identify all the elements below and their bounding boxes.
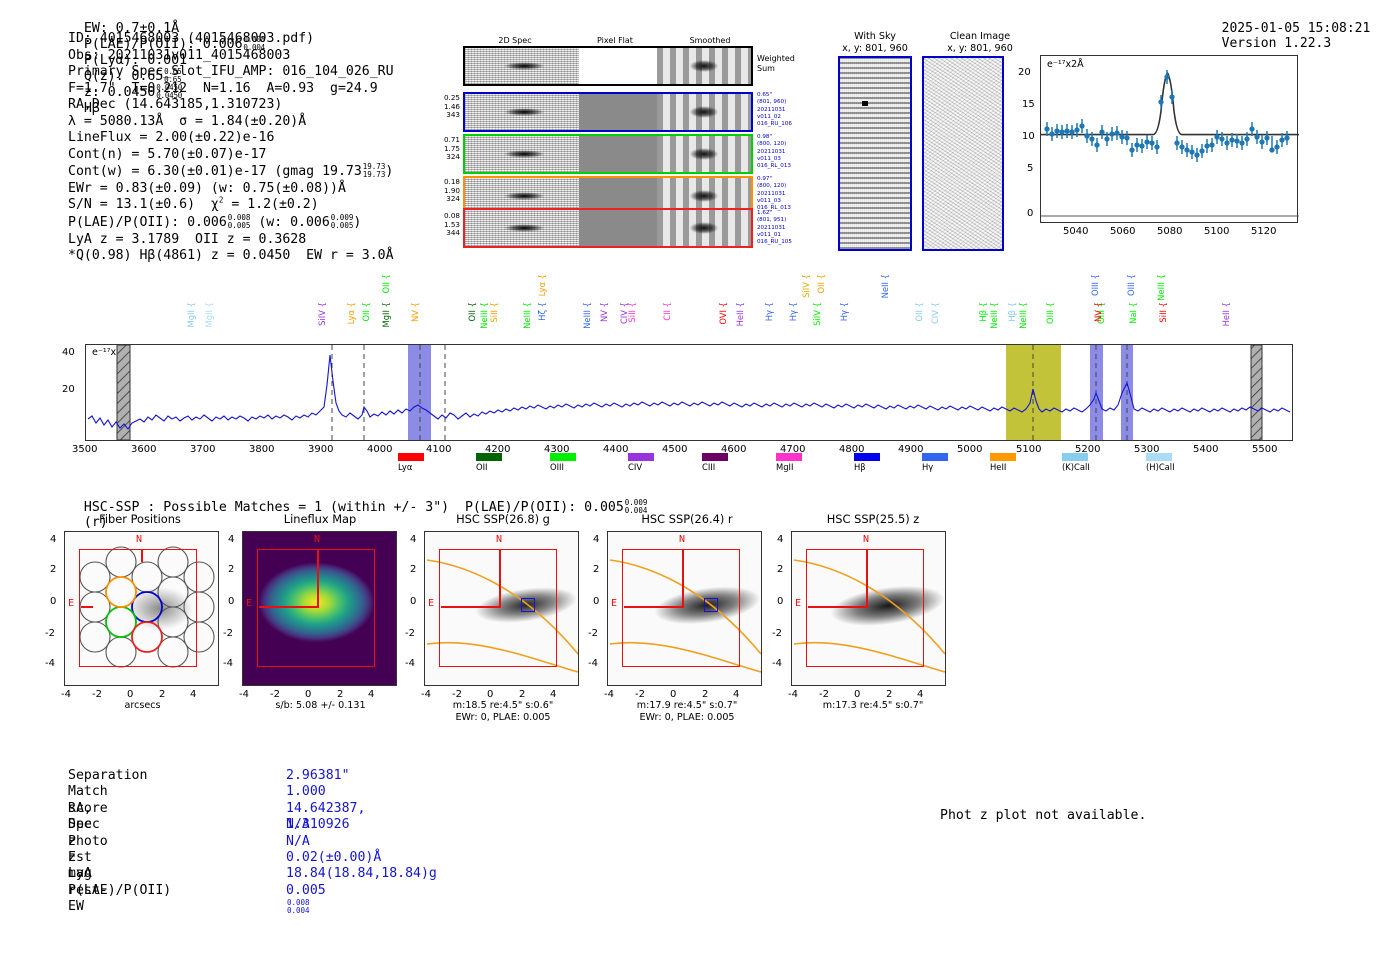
hsc-g-red-box [439, 549, 557, 667]
spec-xtick-5500: 5500 [1252, 444, 1277, 455]
fiber-positions-plot[interactable] [64, 531, 219, 686]
cutout-withsky-image [838, 56, 912, 251]
panel-2-caption: m:18.5 re:4.5" s:0.6" [418, 700, 588, 712]
row4-smoothed-image [657, 210, 751, 246]
p3-xtick-2: 2 [702, 689, 708, 700]
row-val-plae: 0.0050.0080.004 [286, 883, 326, 917]
line-profile-plot: e⁻¹⁷x2Å [1040, 55, 1298, 223]
spec-xtick-5000: 5000 [957, 444, 982, 455]
spec-ytick-40: 40 [62, 347, 75, 358]
weighted-2dspec-image [465, 48, 579, 84]
legend-civ: CIV [628, 452, 658, 472]
panel-3-caption2: EWr: 0, PLAE: 0.005 [602, 712, 772, 724]
row1-2dspec-image [465, 94, 579, 130]
row4-pixelflat-image [579, 210, 656, 246]
legend-hgamma: Hγ [922, 452, 952, 472]
p3-xtick-4: 4 [733, 689, 739, 700]
panel-1-caption: s/b: 5.08 +/- 0.131 [238, 700, 403, 712]
legend-ciii: CIII [702, 452, 732, 472]
hsc-g-plot[interactable] [424, 531, 579, 686]
legend-hbeta: Hβ [854, 452, 884, 472]
p1-xtick-m2: -2 [270, 689, 280, 700]
row2-2dspec-image [465, 136, 579, 172]
weighted-smoothed-image [657, 48, 751, 84]
lp-xtick-5080: 5080 [1157, 226, 1182, 237]
p4-xtick-m4: -4 [788, 689, 798, 700]
p3-ytick-m4: -4 [588, 658, 598, 669]
source-info-block: ID: 4015468003 (4015468003.pdf) Obs: 202… [68, 31, 394, 265]
info-line-radec: RA,Dec (14.643185,1.310723) [68, 97, 394, 114]
lineflux-compass-n: N [314, 534, 320, 545]
info-line-contn: Cont(n) = 5.70(±0.07)e-17 [68, 147, 394, 164]
info-line-ewr: EWr = 0.83(±0.09) (w: 0.75(±0.08))Å [68, 181, 394, 198]
hsc-r-plot[interactable] [607, 531, 762, 686]
legend-lya: Lyα [398, 452, 428, 472]
spec-xtick-3800: 3800 [249, 444, 274, 455]
hsc-r-red-box [622, 549, 740, 667]
legend-oii: OII [476, 452, 506, 472]
p1-xtick-m4: -4 [239, 689, 249, 700]
spec-xtick-4900: 4900 [898, 444, 923, 455]
row-val-matchscore: 1.000 [286, 784, 326, 800]
fiber-compass-n: N [136, 534, 142, 545]
p0-ytick-m2: -2 [45, 628, 55, 639]
row4-2dspec-image [465, 210, 579, 246]
p4-xtick-2: 2 [886, 689, 892, 700]
fiber-red-box [79, 549, 197, 667]
spec-xtick-3700: 3700 [190, 444, 215, 455]
p3-xtick-m4: -4 [604, 689, 614, 700]
spec-row-2 [463, 134, 753, 174]
panel-0-caption: arcsecs [60, 700, 225, 712]
spec-xtick-5400: 5400 [1193, 444, 1218, 455]
spec-xtick-4500: 4500 [662, 444, 687, 455]
p4-xtick-m2: -2 [819, 689, 829, 700]
lp-ytick-10: 10 [1022, 131, 1035, 142]
lp-xtick-5040: 5040 [1063, 226, 1088, 237]
panel-4-title: HSC SSP(25.5) z [788, 512, 958, 526]
panel-1-title: Lineflux Map [240, 512, 400, 526]
p4-ytick-m4: -4 [772, 658, 782, 669]
timestamp-version: 2025-01-05 15:08:21 Version 1.22.3 [1206, 6, 1386, 51]
spec-ytick-20: 20 [62, 384, 75, 395]
legend-mgii: MgII [776, 452, 806, 472]
fiber-compass-e: E [68, 598, 74, 609]
row1-smoothed-image [657, 94, 751, 130]
p0-ytick-m4: -4 [45, 658, 55, 669]
panel-3-title: HSC SSP(26.4) r [602, 512, 772, 526]
version: Version 1.22.3 [1222, 36, 1332, 51]
hsc-z-red-box [806, 549, 924, 667]
p0-xtick-m4: -4 [61, 689, 71, 700]
spec-row-1-left-labels: 0.251.46343 [418, 94, 460, 120]
p1-ytick-4: 4 [228, 534, 234, 545]
row-val-mag: 18.84(18.84,18.84)g [286, 866, 437, 882]
timestamp: 2025-01-05 15:08:21 [1222, 21, 1371, 36]
p3-ytick-2: 2 [593, 564, 599, 575]
spec-row-4-left-labels: 0.081.53344 [418, 212, 460, 238]
spec-xtick-3500: 3500 [72, 444, 97, 455]
col-header-2dspec: 2D Spec [470, 36, 560, 45]
row2-pixelflat-image [579, 136, 656, 172]
p0-ytick-0: 0 [50, 596, 56, 607]
spec-row-3-right-labels: 0.97"(800, 120)20211031v011_03016_RL_013 [757, 176, 809, 212]
weighted-sum-label: WeightedSum [757, 54, 805, 74]
p2-xtick-0: 0 [487, 689, 493, 700]
lp-xtick-5120: 5120 [1251, 226, 1276, 237]
p0-xtick-4: 4 [190, 689, 196, 700]
row-key-mag: mag [68, 866, 92, 882]
row2-smoothed-image [657, 136, 751, 172]
p1-xtick-0: 0 [305, 689, 311, 700]
spec-xtick-4100: 4100 [426, 444, 451, 455]
row-key-separation: Separation [68, 768, 147, 784]
photz-note: Phot z plot not available. [940, 808, 1146, 823]
p1-xtick-2: 2 [337, 689, 343, 700]
cutout-clean-title: Clean Imagex, y: 801, 960 [925, 31, 1035, 54]
p1-xtick-4: 4 [368, 689, 374, 700]
p0-ytick-4: 4 [50, 534, 56, 545]
spec-xtick-3600: 3600 [131, 444, 156, 455]
panel-0-title: Fiber Positions [60, 512, 220, 526]
info-line-obs: Obs: 20211031v011_4015468003 [68, 48, 394, 65]
p4-ytick-0: 0 [777, 596, 783, 607]
info-line-seeing: F=1.7" T=0.212 N=1.16 A=0.93 g=24.9 [68, 81, 394, 98]
spectrum-svg [86, 345, 1292, 440]
hsc-g-compass-e: E [428, 598, 434, 609]
p2-xtick-m2: -2 [452, 689, 462, 700]
info-line-contw: Cont(w) = 6.30(±0.01)e-17 (gmag 19.7319.… [68, 163, 394, 181]
p1-ytick-m2: -2 [223, 628, 233, 639]
line-profile-svg [1041, 56, 1299, 224]
panel-4-caption: m:17.3 re:4.5" s:0.7" [788, 700, 958, 712]
p4-ytick-m2: -2 [772, 628, 782, 639]
p4-ytick-2: 2 [777, 564, 783, 575]
p4-xtick-0: 0 [854, 689, 860, 700]
lp-ytick-0: 0 [1027, 208, 1033, 219]
info-line-lambda: λ = 5080.13Å σ = 1.84(±0.20)Å [68, 114, 394, 131]
spec-row-2-left-labels: 0.711.75324 [418, 136, 460, 162]
info-line-lineflux: LineFlux = 2.00(±0.22)e-16 [68, 130, 394, 147]
hsc-z-compass-e: E [795, 598, 801, 609]
row-val-estlyaew: 0.02(±0.00)Å [286, 850, 381, 866]
weighted-pixelflat-image [579, 48, 656, 84]
legend-kcali: (K)CalI [1062, 452, 1092, 472]
hsc-g-compass-n: N [496, 534, 502, 545]
lineflux-map-plot[interactable] [242, 531, 397, 686]
full-spectrum-plot: e⁻¹⁷x2Å [85, 344, 1293, 441]
legend-oiii: OIII [550, 452, 580, 472]
lineflux-compass-e: E [246, 598, 252, 609]
spec-xtick-4000: 4000 [367, 444, 392, 455]
spec-row-1 [463, 92, 753, 132]
hsc-z-compass-n: N [863, 534, 869, 545]
panel-3-caption: m:17.9 re:4.5" s:0.7" [602, 700, 772, 712]
row-val-specz: N/A [286, 817, 310, 833]
p2-xtick-2: 2 [519, 689, 525, 700]
p1-ytick-0: 0 [228, 596, 234, 607]
p2-ytick-2: 2 [410, 564, 416, 575]
info-line-plae: P(LAE)/P(OII): 0.0060.0080.005 (w: 0.006… [68, 214, 394, 232]
col-header-smoothed: Smoothed [665, 36, 755, 45]
row-val-photoz: N/A [286, 834, 310, 850]
p2-ytick-m2: -2 [405, 628, 415, 639]
spec-row-4-right-labels: 1.62"(801, 951)20211031v011_01016_RU_105 [757, 210, 809, 246]
spectrum-line-labels: MgII { MgII { SiIV { Lyα { OII { OII { M… [85, 276, 1293, 344]
hsc-r-compass-e: E [611, 598, 617, 609]
spec-xtick-3900: 3900 [308, 444, 333, 455]
hsc-z-plot[interactable] [791, 531, 946, 686]
lp-ytick-20: 20 [1018, 67, 1031, 78]
p1-ytick-2: 2 [228, 564, 234, 575]
spec-xtick-4400: 4400 [603, 444, 628, 455]
info-line-z: LyA z = 3.1789 OII z = 0.3628 [68, 232, 394, 249]
spec-row-3-left-labels: 0.181.90324 [418, 178, 460, 204]
p2-ytick-0: 0 [410, 596, 416, 607]
spec-row-weighted-sum [463, 46, 753, 86]
info-line-id: ID: 4015468003 (4015468003.pdf) [68, 31, 394, 48]
p2-xtick-4: 4 [550, 689, 556, 700]
panel-2-title: HSC SSP(26.8) g [418, 512, 588, 526]
info-line-ifu: Primary Spec_Slot_IFU_AMP: 016_104_026_R… [68, 64, 394, 81]
cutout-clean-image [922, 56, 1004, 251]
p0-xtick-2: 2 [159, 689, 165, 700]
p3-ytick-0: 0 [593, 596, 599, 607]
info-line-classification: *Q(0.98) Hβ(4861) z = 0.0450 EW r = 3.0Å [68, 248, 394, 265]
info-line-snr: S/N = 13.1(±0.6) χ2 = 1.2(±0.2) [68, 197, 394, 214]
p0-xtick-m2: -2 [92, 689, 102, 700]
spec-row-2-right-labels: 0.98"(800, 120)20211031v011_03016_RL_013 [757, 134, 809, 170]
lp-xtick-5100: 5100 [1204, 226, 1229, 237]
hsc-r-compass-n: N [679, 534, 685, 545]
row1-pixelflat-image [579, 94, 656, 130]
p3-xtick-0: 0 [670, 689, 676, 700]
legend-heii: HeII [990, 452, 1020, 472]
p3-xtick-m2: -2 [635, 689, 645, 700]
row-key-plae: P(LAE)/P(OII) [68, 883, 171, 899]
spec-row-1-right-labels: 0.65"(801, 960)20211031v011_02016_RU_106 [757, 92, 809, 128]
row-val-separation: 2.96381" [286, 768, 350, 784]
p4-ytick-4: 4 [777, 534, 783, 545]
p3-ytick-4: 4 [593, 534, 599, 545]
legend-hcali: (H)CalI [1146, 452, 1176, 472]
lp-xtick-5060: 5060 [1110, 226, 1135, 237]
cutout-withsky-title: With Skyx, y: 801, 960 [820, 31, 930, 54]
p4-xtick-4: 4 [917, 689, 923, 700]
p3-ytick-m2: -2 [588, 628, 598, 639]
lineflux-red-box [257, 549, 375, 667]
p0-ytick-2: 2 [50, 564, 56, 575]
p0-xtick-0: 0 [127, 689, 133, 700]
p1-ytick-m4: -4 [223, 658, 233, 669]
p2-xtick-m4: -4 [421, 689, 431, 700]
lp-ytick-15: 15 [1022, 99, 1035, 110]
p2-ytick-m4: -4 [405, 658, 415, 669]
col-header-pixelflat: Pixel Flat [570, 36, 660, 45]
panel-2-caption2: EWr: 0, PLAE: 0.005 [418, 712, 588, 724]
p2-ytick-4: 4 [410, 534, 416, 545]
lp-ytick-5: 5 [1027, 163, 1033, 174]
spec-row-4 [463, 208, 753, 248]
